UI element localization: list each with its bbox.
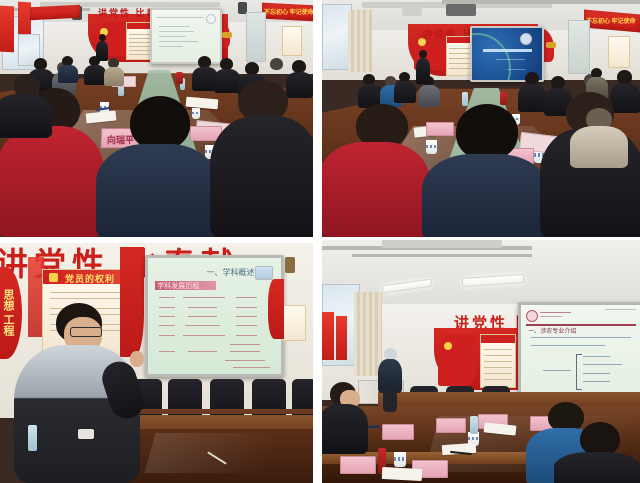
torso (104, 67, 124, 86)
torso (322, 404, 368, 454)
slide-row (188, 351, 217, 352)
slide-body-line (531, 337, 632, 338)
torso (422, 154, 548, 237)
attendee (58, 56, 78, 82)
slide-title-br: 一、涉农专业介绍 (528, 326, 576, 335)
slide-row (230, 351, 259, 352)
torso (554, 452, 640, 483)
water-bottle (28, 425, 37, 451)
slide-row (236, 307, 257, 308)
ceiling-beam (382, 240, 502, 248)
projection-screen-tl (152, 10, 220, 62)
slide-brace-label (543, 370, 572, 371)
poster-text-line (484, 355, 513, 356)
banner-text-right-tl: 不忘初心 牢记使命 (264, 7, 313, 16)
poster-text-line (484, 367, 513, 368)
attendee-foreground-dark[interactable] (210, 80, 313, 237)
attendee-foreground-dark[interactable] (554, 422, 640, 483)
slide-branch-item (583, 381, 609, 382)
presenter-standing[interactable] (378, 348, 402, 410)
party-rights-poster (480, 334, 516, 388)
slide-row (236, 316, 257, 317)
poster-text-line (449, 63, 471, 64)
torso (96, 41, 108, 61)
projection-screen-br: 一、涉农专业介绍 (521, 305, 640, 399)
slide-row (159, 316, 175, 317)
head (617, 70, 632, 84)
table-nameplate (340, 456, 376, 474)
photo-top-right[interactable]: 讲党性 比奉献 不 (322, 0, 640, 237)
torso (0, 94, 52, 138)
slide-subtitle-line (496, 59, 525, 60)
attendee-foreground-navy[interactable] (422, 104, 548, 237)
slide-row (183, 297, 226, 298)
wall-notice (282, 26, 302, 56)
room-rear-view-scene: 讲党性 比奉献 一、涉农专 (322, 240, 640, 483)
attendee-foreground-red[interactable] (322, 104, 430, 237)
torso (0, 126, 104, 237)
poster-text-line (129, 46, 151, 47)
poster-text-line (449, 58, 471, 59)
slide-text-line (159, 31, 194, 32)
attendee-left (322, 382, 368, 452)
head (456, 104, 518, 160)
slide-row (185, 325, 220, 326)
slide-body-line (531, 345, 605, 346)
projection-screen-bl: 一、学科概述 学科发展历程 (148, 258, 281, 374)
torso (210, 116, 313, 237)
wall-speaker (285, 257, 295, 273)
vertical-banner (322, 312, 334, 360)
ceiling-speaker (446, 4, 476, 16)
projection-screen-frame: 一、涉农专业介绍 (518, 302, 640, 402)
slide-row (236, 297, 257, 298)
poster-text-line (129, 34, 151, 35)
slide-text-line (156, 17, 204, 18)
wall-notice (282, 305, 306, 341)
photo-top-left[interactable]: 讲党性 比奉献 (0, 0, 313, 237)
vertical-banner-left (0, 6, 14, 53)
presenter-closeup-scene: 讲党性 比奉献 思想 工程 党员的权利 一、学科概述 (0, 243, 313, 483)
poster-text-line (484, 349, 513, 350)
slide-university-logo-icon (526, 310, 538, 322)
slide-row (230, 344, 259, 345)
presenter (416, 50, 430, 84)
head (130, 96, 190, 150)
head (99, 34, 106, 41)
attendee-side-right (570, 108, 628, 164)
slide-row (183, 335, 226, 336)
slide-row (236, 335, 257, 336)
horizontal-banner-left (30, 5, 80, 21)
attendee-foreground-navy[interactable] (96, 96, 218, 237)
hand (130, 351, 144, 367)
head (419, 50, 427, 58)
poster-text-line (129, 38, 151, 39)
photo-bottom-left[interactable]: 讲党性 比奉献 思想 工程 党员的权利 一、学科概述 (0, 243, 313, 483)
legs (383, 390, 397, 412)
slide-title-line (483, 49, 532, 52)
slide-row (159, 335, 175, 336)
torso (322, 142, 430, 237)
poster-text-line (484, 373, 513, 374)
thermos-flask (176, 72, 183, 84)
slide-row (188, 307, 217, 308)
table-nameplate (436, 418, 466, 433)
slide-branch-item (583, 356, 609, 357)
attendee-side-left (0, 74, 52, 134)
slide-row (233, 367, 270, 368)
vertical-banner (336, 316, 347, 360)
door-panel (568, 20, 590, 74)
photo-collage: 讲党性 比奉献 (0, 0, 640, 483)
slide-text-line (159, 41, 198, 42)
slide-decorative-arc (472, 33, 511, 80)
poster-text-line (50, 292, 126, 293)
ceiling-pipe (352, 254, 532, 257)
presentation-remote[interactable] (78, 429, 94, 439)
slide-header-line (540, 316, 562, 317)
document-sheet (382, 467, 423, 481)
banner-text-right-tr: 不忘初心 牢记使命 (586, 16, 636, 25)
slide-brace (576, 354, 582, 390)
slide-section-label: 学科发展历程 (157, 281, 199, 291)
poster-text-line (484, 361, 513, 362)
slide-branch-item (583, 373, 609, 374)
torso (378, 359, 402, 393)
slide-branch-item (583, 364, 621, 365)
slide-text-line (159, 46, 183, 47)
attendee (394, 72, 416, 102)
torso (570, 126, 628, 168)
wall-notice (608, 36, 630, 68)
slide-header-line (605, 309, 636, 310)
slide-emblem-icon (520, 33, 532, 45)
torso (84, 65, 106, 85)
door-panel (246, 12, 266, 62)
water-bottle (470, 416, 478, 434)
slide-photo-thumb (255, 266, 273, 280)
slide-title-bl: 一、学科概述 (207, 267, 255, 278)
window-curtain (348, 10, 372, 72)
party-emblem-icon (49, 273, 58, 282)
conference-room-scene-tr: 讲党性 比奉献 不 (322, 0, 640, 237)
conference-room-scene-tl: 讲党性 比奉献 (0, 0, 313, 237)
slide-text-line (159, 36, 186, 37)
presenter-main[interactable] (14, 303, 140, 483)
slide-row (225, 360, 265, 361)
poster-text-line (129, 50, 151, 51)
chair-armrest (126, 409, 313, 414)
slide-text-line (159, 26, 190, 27)
wall-plaque-icon (546, 42, 556, 48)
wall-plaque-icon (222, 32, 232, 38)
torso (416, 58, 430, 84)
slide-row (236, 325, 257, 326)
poster-header (481, 335, 515, 343)
table-nameplate (382, 424, 414, 440)
party-flag-graphic (438, 334, 476, 386)
slide-row (159, 297, 175, 298)
party-wall-mural-far-right (268, 279, 284, 339)
poster-text-line (449, 68, 471, 69)
slide-row (159, 351, 175, 352)
poster-text-line (129, 54, 151, 55)
party-emblem-icon (444, 342, 452, 350)
poster-text-line (129, 42, 151, 43)
photo-bottom-right[interactable]: 讲党性 比奉献 一、涉农专 (322, 240, 640, 483)
poster-text-line (50, 298, 126, 299)
poster-text-line (484, 379, 513, 380)
projection-screen-frame: 一、学科概述 学科发展历程 (145, 255, 284, 377)
torso (58, 65, 78, 83)
slide-row (159, 307, 175, 308)
attendee (358, 74, 382, 106)
head (580, 422, 620, 456)
poster-text-line (449, 53, 471, 54)
slide-footer-line (507, 69, 525, 70)
poster-title-bl: 党员的权利 (65, 272, 115, 285)
poster-text-line (449, 48, 471, 49)
slide-logo-icon (206, 14, 216, 24)
ceiling-projector (402, 6, 422, 16)
paper-cup (394, 452, 406, 467)
torso (394, 81, 416, 103)
slide-row (159, 325, 175, 326)
presenter (96, 34, 108, 62)
eyeglasses-icon (70, 327, 102, 337)
slide-header-line (540, 312, 571, 313)
torso (96, 144, 218, 237)
slide-row (188, 316, 217, 317)
